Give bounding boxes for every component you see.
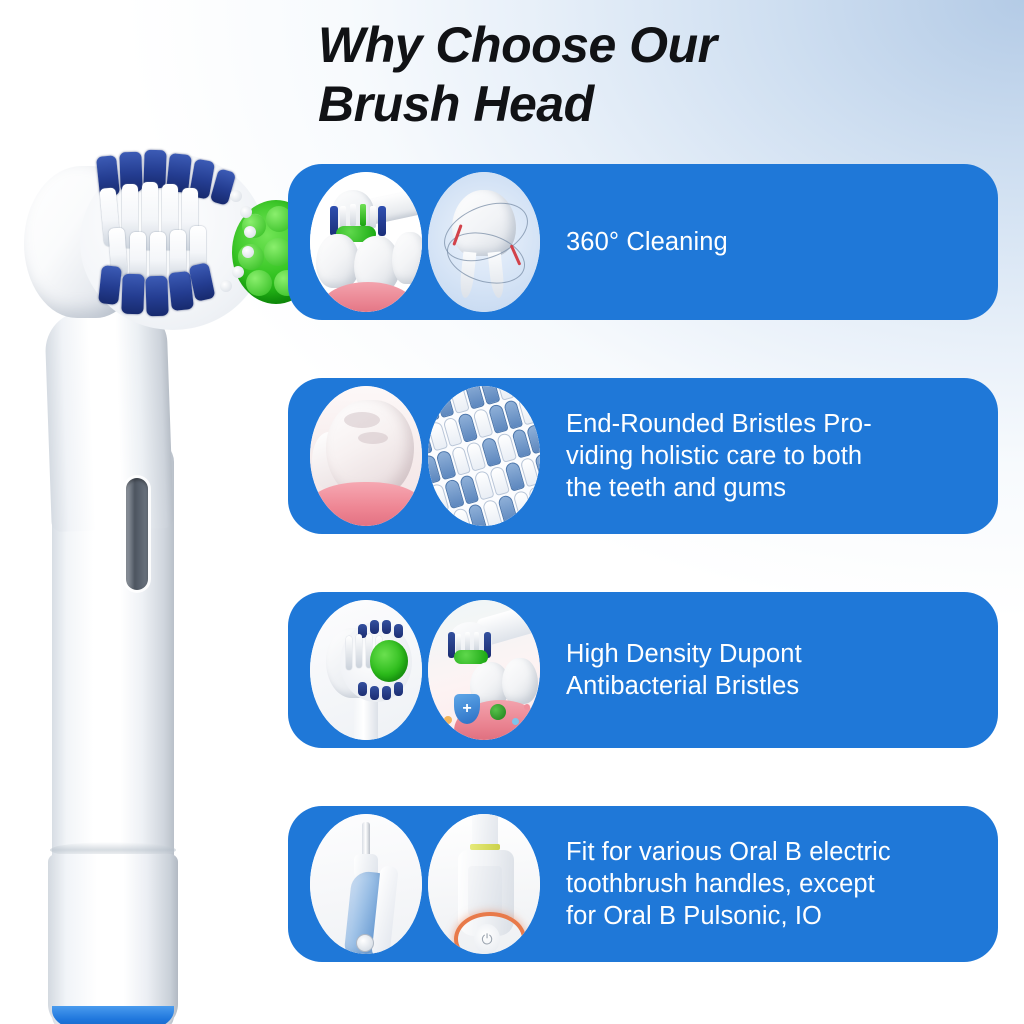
brush-neck (44, 308, 174, 532)
bristle-blue-bottom-3 (145, 276, 168, 317)
feature-text: Fit for various Oral B electric toothbru… (566, 836, 891, 932)
feature-card-end-rounded-bristles[interactable]: End-Rounded Bristles Pro- viding holisti… (288, 378, 998, 534)
thumb-handle-power-ring: ⏻ (428, 814, 540, 954)
feature-text-line: High Density Dupont (566, 638, 802, 670)
feature-card-360-cleaning[interactable]: 360° Cleaning (288, 164, 998, 320)
feature-text-line: Antibacterial Bristles (566, 670, 802, 702)
feature-text-line: End-Rounded Bristles Pro- (566, 408, 872, 440)
bristle-blue-bottom-2 (121, 274, 144, 315)
bristle-blue-bottom-1 (98, 265, 122, 305)
power-glyph: ⏻ (481, 931, 492, 948)
feature-card-high-density-dupont-bristles[interactable]: + High Density Dupont Antibacterial Bris… (288, 592, 998, 748)
bristle-tip-right-6 (220, 280, 232, 292)
feature-text-line: 360° Cleaning (566, 226, 728, 258)
feature-text-line: the teeth and gums (566, 472, 872, 504)
feature-thumbs (310, 172, 540, 312)
feature-thumbs: + (310, 600, 540, 740)
brush-bristle-disc (80, 154, 266, 330)
thumb-brushing-antibacterial: + (428, 600, 540, 740)
brush-handle-base (48, 854, 178, 1024)
feature-text-line: for Oral B Pulsonic, IO (566, 900, 891, 932)
feature-text: High Density Dupont Antibacterial Bristl… (566, 638, 802, 702)
page-title-line-2: Brush Head (318, 75, 938, 134)
feature-text: End-Rounded Bristles Pro- viding holisti… (566, 408, 872, 504)
bristle-tip-right-1 (230, 190, 242, 202)
brush-base-blue-ring (52, 1006, 174, 1024)
page-title: Why Choose Our Brush Head (318, 16, 938, 134)
feature-card-compatibility[interactable]: ⏻ Fit for various Oral B electric toothb… (288, 806, 998, 962)
feature-text-line: Fit for various Oral B electric (566, 836, 891, 868)
thumb-tooth-360-swirl (428, 172, 540, 312)
product-image (8, 140, 278, 1000)
feature-text-line: viding holistic care to both (566, 440, 872, 472)
thumb-rounded-bristle-tips (428, 386, 540, 526)
germ-icon (490, 704, 506, 720)
green-bump-7 (246, 270, 272, 296)
bristle-tip-right-5 (232, 266, 244, 278)
shield-plus-glyph: + (462, 701, 471, 717)
page-title-line-1: Why Choose Our (318, 16, 938, 75)
brush-neck-slot (126, 478, 148, 590)
feature-text: 360° Cleaning (566, 226, 728, 258)
feature-text-line: toothbrush handles, except (566, 868, 891, 900)
infographic-page: Why Choose Our Brush Head (0, 0, 1024, 1024)
bristle-tip-right-3 (244, 226, 256, 238)
bristle-tip-right-2 (240, 206, 252, 218)
bristle-tip-right-4 (242, 246, 254, 258)
feature-thumbs: ⏻ (310, 814, 540, 954)
feature-card-list: 360° Cleaning (288, 164, 998, 962)
thumb-brush-head-on-teeth (310, 172, 422, 312)
feature-thumbs (310, 386, 540, 526)
power-icon: ⏻ (474, 924, 500, 954)
thumb-blue-handle (310, 814, 422, 954)
thumb-molar-gum-closeup (310, 386, 422, 526)
thumb-brush-head-front (310, 600, 422, 740)
